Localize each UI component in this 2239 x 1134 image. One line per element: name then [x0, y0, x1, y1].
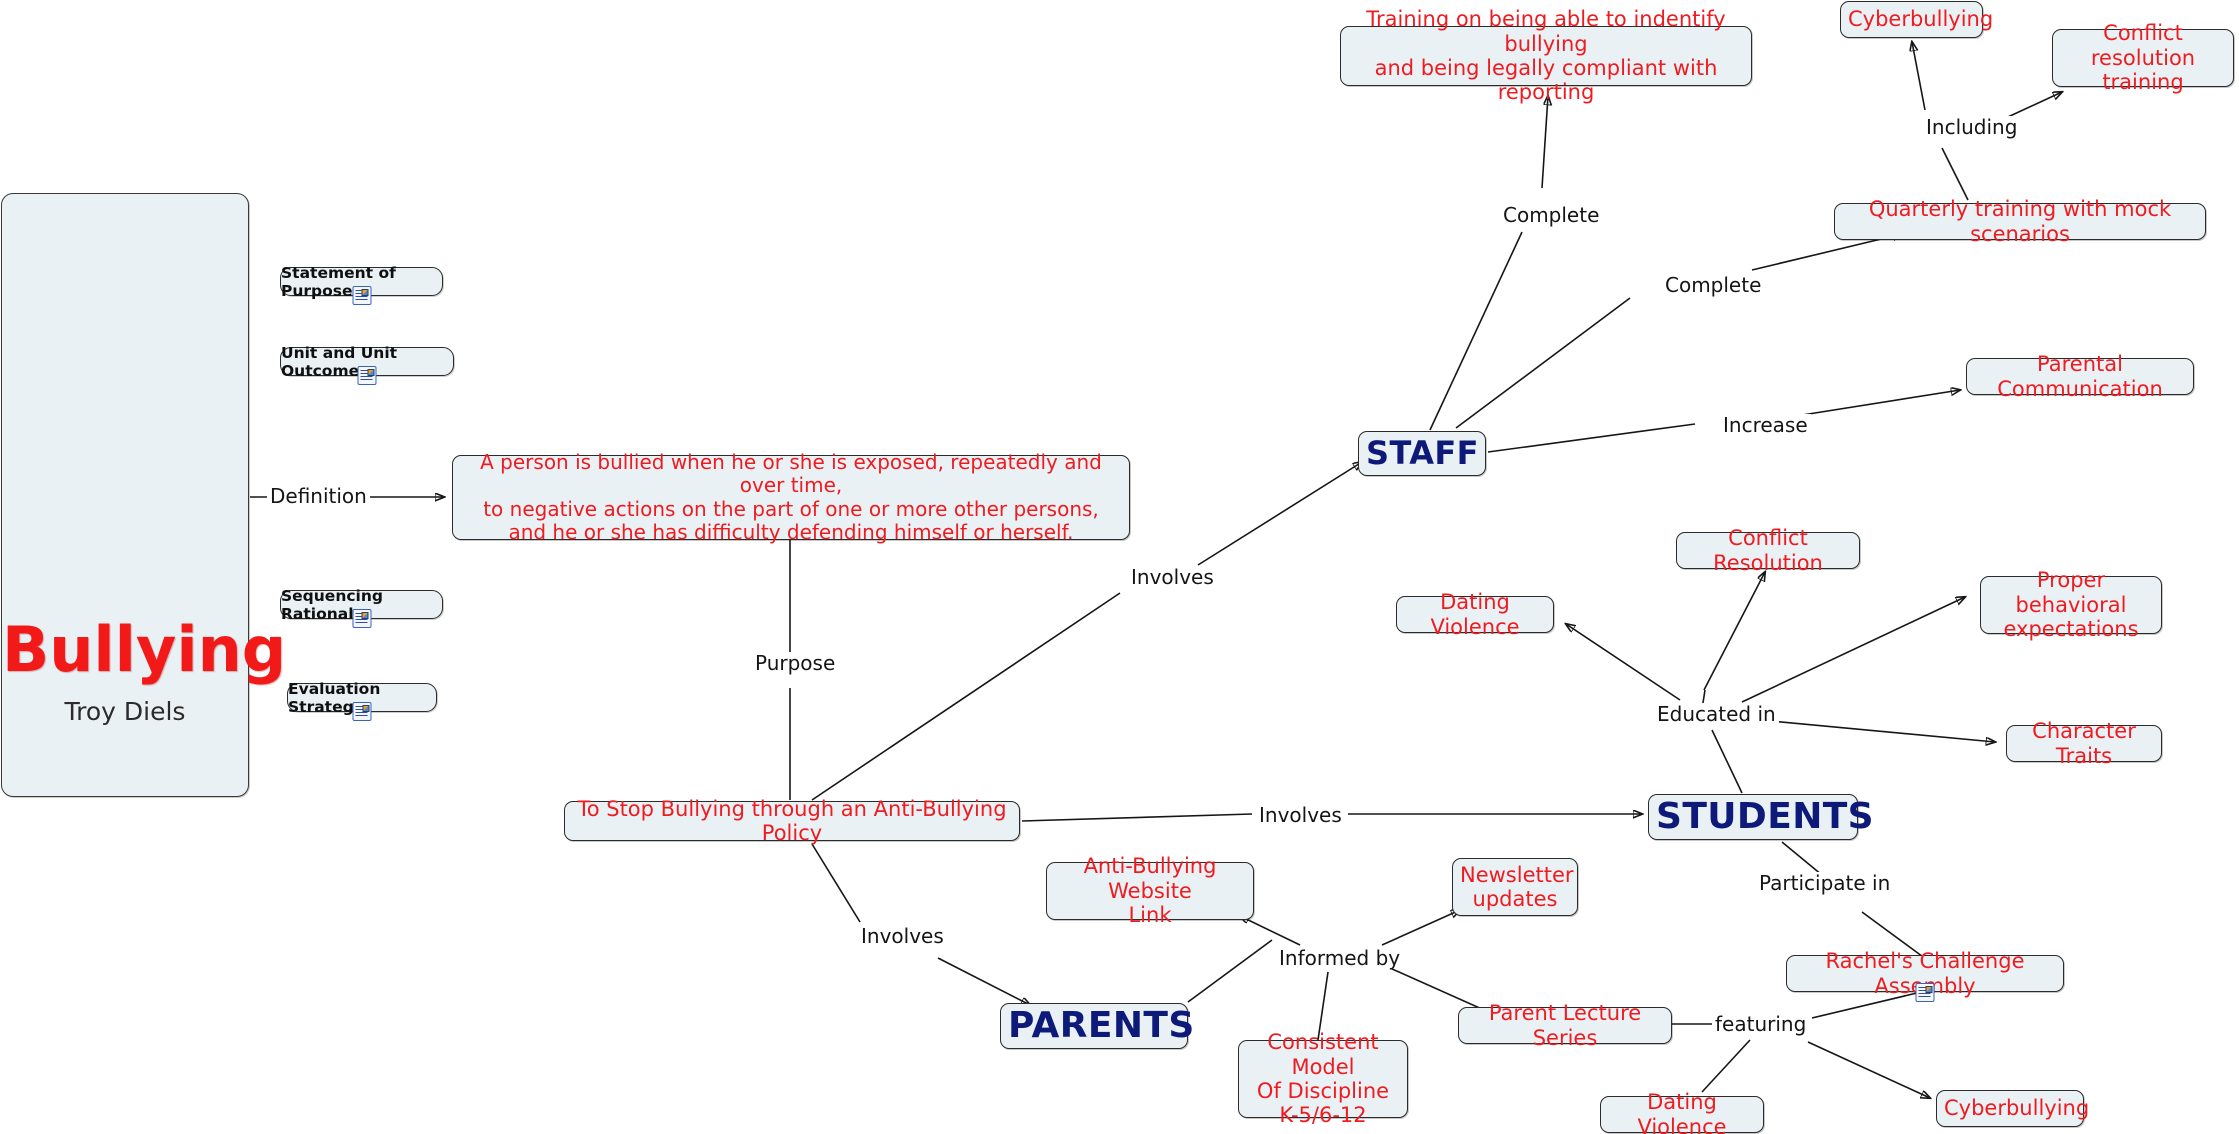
node-quarterly-training-mock-scenarios[interactable]: Quarterly training with mock scenarios: [1834, 203, 2206, 240]
node-definition[interactable]: A person is bullied when he or she is ex…: [452, 455, 1130, 540]
edge-label-complete-quarterly: Complete: [1662, 274, 1764, 296]
page-title: Bullying: [2, 619, 248, 681]
resource-node-unit-and-unit-outcomes[interactable]: Unit and Unit Outcomes: [280, 347, 454, 376]
resource-node-sequencing-rationale[interactable]: Sequencing Rationale: [280, 590, 443, 619]
edge-label-featuring: featuring: [1712, 1013, 1809, 1035]
node-proper-behavioral-expectations[interactable]: Proper behavioral expectations: [1980, 576, 2162, 634]
document-icon[interactable]: [358, 366, 377, 385]
node-cyberbullying-featuring[interactable]: Cyberbullying: [1936, 1090, 2084, 1127]
node-dating-violence-students[interactable]: Dating Violence: [1396, 596, 1554, 633]
node-newsletter-updates[interactable]: Newsletter updates: [1452, 858, 1578, 916]
author-name: Troy Diels: [2, 697, 248, 726]
resource-node-evaluation-strategy[interactable]: Evaluation Strategy: [287, 683, 437, 712]
edge-label-involves-staff: Involves: [1128, 566, 1217, 588]
node-cyberbullying-top[interactable]: Cyberbullying: [1840, 1, 1983, 38]
edge-label-complete-training: Complete: [1500, 204, 1602, 226]
node-parent-lecture-series[interactable]: Parent Lecture Series: [1458, 1007, 1672, 1044]
edge-label-including: Including: [1923, 116, 2020, 138]
concept-map-canvas: Bullying Troy Diels Statement of Purpose…: [0, 0, 2239, 1134]
node-rachels-challenge-assembly[interactable]: Rachel's Challenge Assembly: [1786, 955, 2064, 992]
edge-label-definition: Definition: [267, 485, 370, 507]
node-students[interactable]: STUDENTS: [1648, 794, 1858, 840]
node-conflict-resolution[interactable]: Conflict Resolution: [1676, 532, 1860, 569]
edge-label-purpose: Purpose: [752, 652, 838, 674]
node-dating-violence-featuring[interactable]: Dating Violence: [1600, 1096, 1764, 1133]
node-parental-communication[interactable]: Parental Communication: [1966, 358, 2194, 395]
edge-label-participate-in: Participate in: [1756, 872, 1893, 894]
node-anti-bullying-website-link[interactable]: Anti-Bullying Website Link: [1046, 862, 1254, 920]
edge-label-involves-students: Involves: [1256, 804, 1345, 826]
node-parents[interactable]: PARENTS: [1000, 1003, 1188, 1049]
edge-label-involves-parents: Involves: [858, 925, 947, 947]
document-icon[interactable]: [353, 702, 372, 721]
node-staff[interactable]: STAFF: [1358, 431, 1486, 476]
edge-label-informed-by: Informed by: [1276, 947, 1403, 969]
node-definition-text: A person is bullied when he or she is ex…: [453, 451, 1129, 544]
node-training-identify-bullying[interactable]: Training on being able to indentify bull…: [1340, 26, 1752, 86]
title-panel[interactable]: Bullying Troy Diels: [1, 193, 249, 797]
document-icon[interactable]: [352, 609, 371, 628]
node-purpose-statement[interactable]: To Stop Bullying through an Anti-Bullyin…: [564, 801, 1020, 841]
resource-node-statement-of-purpose[interactable]: Statement of Purpose: [280, 267, 443, 296]
node-character-traits[interactable]: Character Traits: [2006, 725, 2162, 762]
edge-label-educated-in: Educated in: [1654, 703, 1779, 725]
document-icon[interactable]: [352, 286, 371, 305]
edge-label-increase: Increase: [1720, 414, 1811, 436]
document-icon[interactable]: [1916, 983, 1935, 1002]
node-consistent-model-of-discipline[interactable]: Consistent Model Of Discipline K-5/6-12: [1238, 1040, 1408, 1118]
node-conflict-resolution-training[interactable]: Conflict resolution training: [2052, 29, 2234, 87]
